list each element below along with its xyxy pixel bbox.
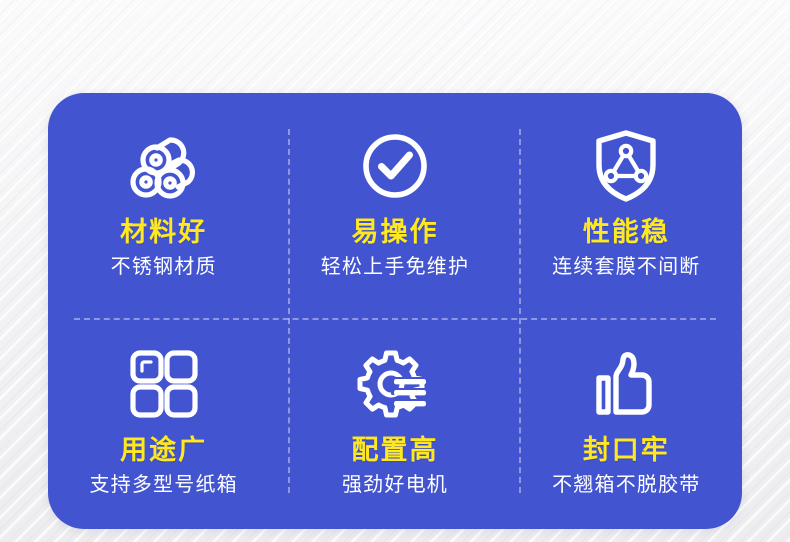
check-circle-icon <box>358 129 432 203</box>
feature-title: 封口牢 <box>583 435 670 465</box>
feature-title: 易操作 <box>351 217 438 247</box>
steel-coils-icon <box>124 129 204 203</box>
feature-grid: 材料好 不锈钢材质 易操作 轻松上手免维护 <box>48 93 742 529</box>
gear-settings-icon <box>357 347 433 421</box>
feature-cell-wide-usage: 用途广 支持多型号纸箱 <box>48 311 279 529</box>
feature-title: 用途广 <box>120 435 207 465</box>
feature-subtitle: 轻松上手免维护 <box>321 256 469 279</box>
feature-cell-secure-sealing: 封口牢 不翘箱不脱胶带 <box>511 311 742 529</box>
feature-cell-easy-operation: 易操作 轻松上手免维护 <box>279 93 510 311</box>
feature-subtitle: 不翘箱不脱胶带 <box>552 474 700 497</box>
feature-subtitle: 连续套膜不间断 <box>552 256 700 279</box>
feature-title: 材料好 <box>120 217 207 247</box>
grid-squares-icon <box>129 347 199 421</box>
shield-network-icon <box>591 129 661 203</box>
feature-subtitle: 支持多型号纸箱 <box>89 474 237 497</box>
feature-subtitle: 不锈钢材质 <box>111 256 217 279</box>
feature-subtitle: 强劲好电机 <box>342 474 448 497</box>
feature-cell-stable-performance: 性能稳 连续套膜不间断 <box>511 93 742 311</box>
feature-cell-high-config: 配置高 强劲好电机 <box>279 311 510 529</box>
page-canvas: 材料好 不锈钢材质 易操作 轻松上手免维护 <box>0 0 790 542</box>
feature-cell-material: 材料好 不锈钢材质 <box>48 93 279 311</box>
feature-title: 性能稳 <box>583 217 670 247</box>
feature-title: 配置高 <box>351 435 438 465</box>
feature-panel: 材料好 不锈钢材质 易操作 轻松上手免维护 <box>48 93 742 529</box>
thumbs-up-icon <box>590 347 662 421</box>
